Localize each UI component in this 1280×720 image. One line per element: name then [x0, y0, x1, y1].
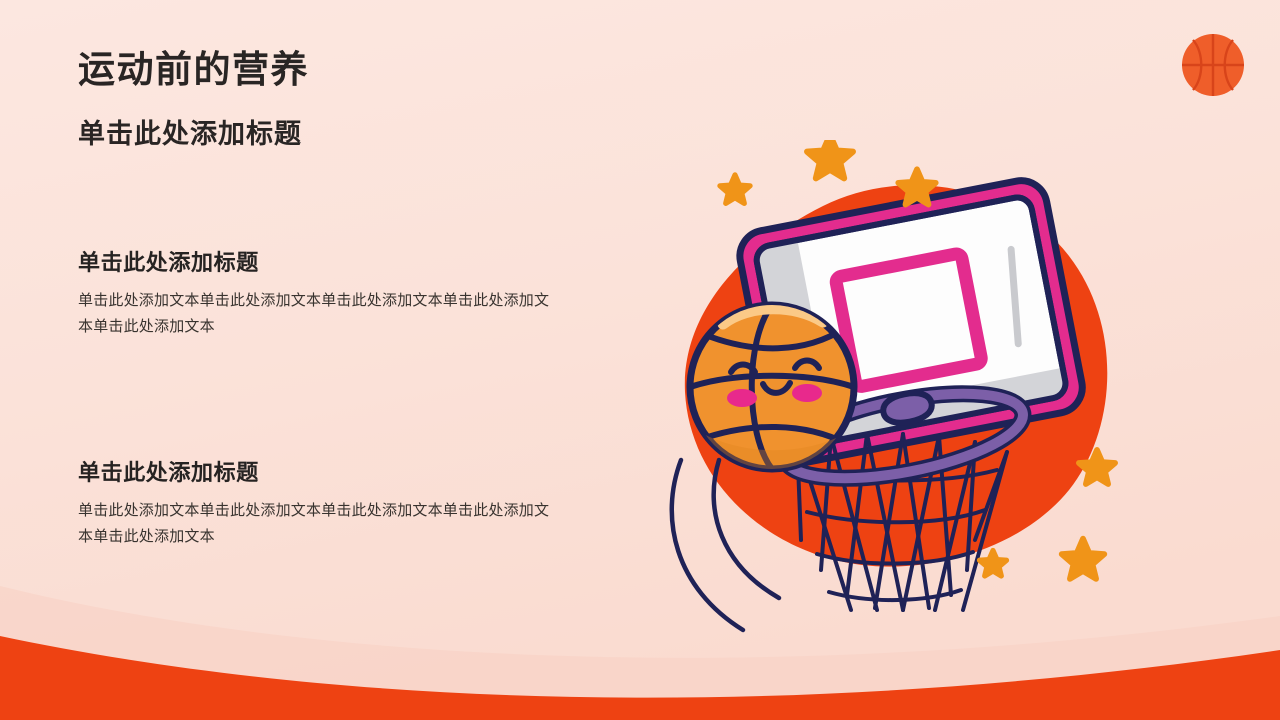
star-icon — [807, 140, 853, 178]
ball-cheek-right — [792, 384, 822, 402]
wave-orange — [0, 636, 1280, 720]
basketball-hoop-illustration — [645, 140, 1165, 640]
content-section-1: 单击此处添加标题 单击此处添加文本单击此处添加文本单击此处添加文本单击此处添加文… — [78, 250, 578, 340]
basketball-icon — [1178, 30, 1248, 100]
star-icon — [979, 550, 1006, 575]
star-icon — [1062, 539, 1105, 579]
section-1-heading: 单击此处添加标题 — [78, 250, 578, 276]
page-subtitle: 单击此处添加标题 — [78, 118, 598, 150]
title-group: 运动前的营养 单击此处添加标题 — [78, 48, 598, 150]
section-2-body: 单击此处添加文本单击此处添加文本单击此处添加文本单击此处添加文本单击此处添加文本 — [78, 498, 558, 550]
content-section-2: 单击此处添加标题 单击此处添加文本单击此处添加文本单击此处添加文本单击此处添加文… — [78, 460, 578, 550]
slide-root: 运动前的营养 单击此处添加标题 单击此处添加标题 单击此处添加文本单击此处添加文… — [0, 0, 1280, 720]
section-2-heading: 单击此处添加标题 — [78, 460, 578, 486]
ball-cheek-left — [727, 389, 757, 407]
section-1-body: 单击此处添加文本单击此处添加文本单击此处添加文本单击此处添加文本单击此处添加文本 — [78, 288, 558, 340]
star-icon — [720, 175, 750, 203]
page-title: 运动前的营养 — [78, 48, 598, 92]
star-icon — [898, 169, 935, 204]
